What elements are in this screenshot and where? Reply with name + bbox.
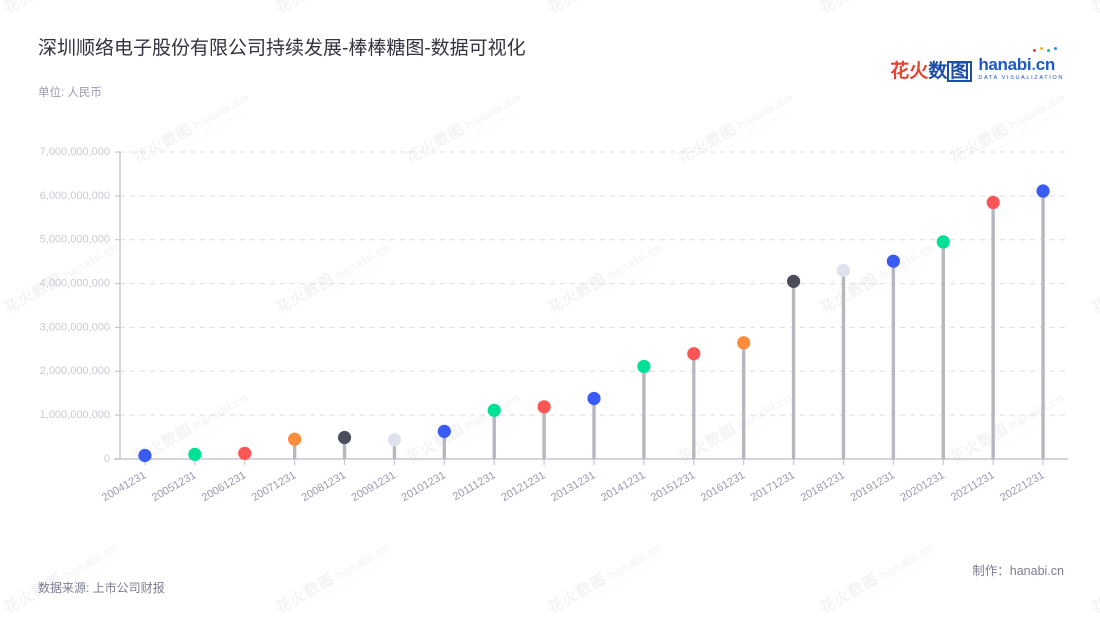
x-tick-label: 20051231: [150, 469, 198, 504]
data-point-marker[interactable]: [737, 336, 750, 349]
logo-en-tld: cn: [1036, 55, 1055, 74]
brand-logo: 花火数图 hanabi.cn DATA VISUALIZATION: [890, 52, 1064, 82]
x-tick-label: 20041231: [100, 469, 148, 504]
logo-subtitle: DATA VISUALIZATION: [978, 74, 1064, 82]
x-tick-label: 20071231: [250, 469, 298, 504]
x-axis: [114, 152, 1068, 465]
logo-spark-red: [1033, 49, 1036, 52]
logo-cn-part2: 数: [928, 61, 947, 82]
data-point-marker[interactable]: [837, 264, 850, 277]
data-point-marker[interactable]: [488, 404, 501, 417]
lollipop-chart: 01,000,000,0002,000,000,0003,000,000,000…: [0, 0, 1100, 620]
x-tick-label: 20151231: [649, 469, 697, 504]
x-tick-label: 20191231: [848, 469, 896, 504]
logo-en-name: hanabi: [978, 55, 1031, 74]
x-tick-label: 20091231: [350, 469, 398, 504]
data-point-marker[interactable]: [787, 275, 800, 288]
x-tick-label: 20181231: [799, 469, 847, 504]
data-point-marker[interactable]: [887, 255, 900, 268]
data-point-marker[interactable]: [388, 433, 401, 446]
source-note: 数据来源: 上市公司财报: [38, 579, 208, 598]
credit-note: 制作：hanabi.cn: [972, 560, 1064, 579]
page-title: 深圳顺络电子股份有限公司持续发展-棒棒糖图-数据可视化: [38, 36, 526, 62]
x-tick-label: 20141231: [599, 469, 647, 504]
y-tick-label: 2,000,000,000: [40, 365, 110, 377]
data-point-marker[interactable]: [338, 431, 351, 444]
x-tick-label: 20201231: [898, 469, 946, 504]
unit-label: 单位: 人民币: [38, 86, 110, 101]
y-tick-label: 0: [104, 453, 110, 465]
data-point-marker[interactable]: [937, 235, 950, 248]
x-tick-label: 20211231: [949, 469, 997, 503]
logo-chinese: 花火数图: [890, 61, 972, 82]
logo-wordmark: hanabi.cn: [978, 56, 1064, 73]
x-tick-label: 20171231: [749, 469, 797, 504]
data-point-marker[interactable]: [987, 196, 1000, 209]
data-point-marker[interactable]: [687, 347, 700, 360]
x-tick-label: 20081231: [300, 469, 348, 504]
logo-cn-part1: 花火: [890, 61, 928, 82]
data-point-marker[interactable]: [438, 425, 451, 438]
y-tick-label: 6,000,000,000: [40, 190, 110, 202]
y-axis-labels: 01,000,000,0002,000,000,0003,000,000,000…: [40, 146, 110, 465]
data-point-marker[interactable]: [587, 392, 600, 405]
y-tick-label: 4,000,000,000: [40, 277, 110, 289]
logo-cn-part3: 图: [947, 61, 972, 82]
data-point-marker[interactable]: [538, 400, 551, 413]
logo-spark-blue: [1054, 47, 1057, 50]
data-point-marker[interactable]: [138, 449, 151, 462]
x-tick-label: 20161231: [699, 469, 747, 504]
data-point-marker[interactable]: [637, 360, 650, 373]
data-point-marker[interactable]: [238, 447, 251, 460]
x-tick-label: 20111231: [451, 469, 498, 503]
logo-latin-block: hanabi.cn DATA VISUALIZATION: [978, 52, 1064, 82]
x-tick-label: 20121231: [499, 469, 547, 504]
data-point-marker[interactable]: [188, 448, 201, 461]
y-tick-label: 7,000,000,000: [40, 146, 110, 158]
x-tick-label: 20131231: [549, 469, 597, 504]
y-tick-label: 1,000,000,000: [40, 409, 110, 421]
x-axis-labels: 2004123120051231200612312007123120081231…: [100, 469, 1046, 504]
y-tick-label: 3,000,000,000: [40, 321, 110, 333]
data-point-marker[interactable]: [1036, 184, 1049, 197]
gridlines: [115, 152, 1068, 459]
x-tick-label: 20101231: [399, 469, 447, 504]
y-tick-label: 5,000,000,000: [40, 234, 110, 246]
x-tick-label: 20061231: [200, 469, 248, 504]
x-tick-label: 20221231: [998, 469, 1046, 504]
logo-spark-yellow: [1040, 47, 1043, 50]
data-stems: [145, 191, 1043, 459]
data-point-marker[interactable]: [288, 433, 301, 446]
logo-spark-green: [1047, 49, 1050, 52]
